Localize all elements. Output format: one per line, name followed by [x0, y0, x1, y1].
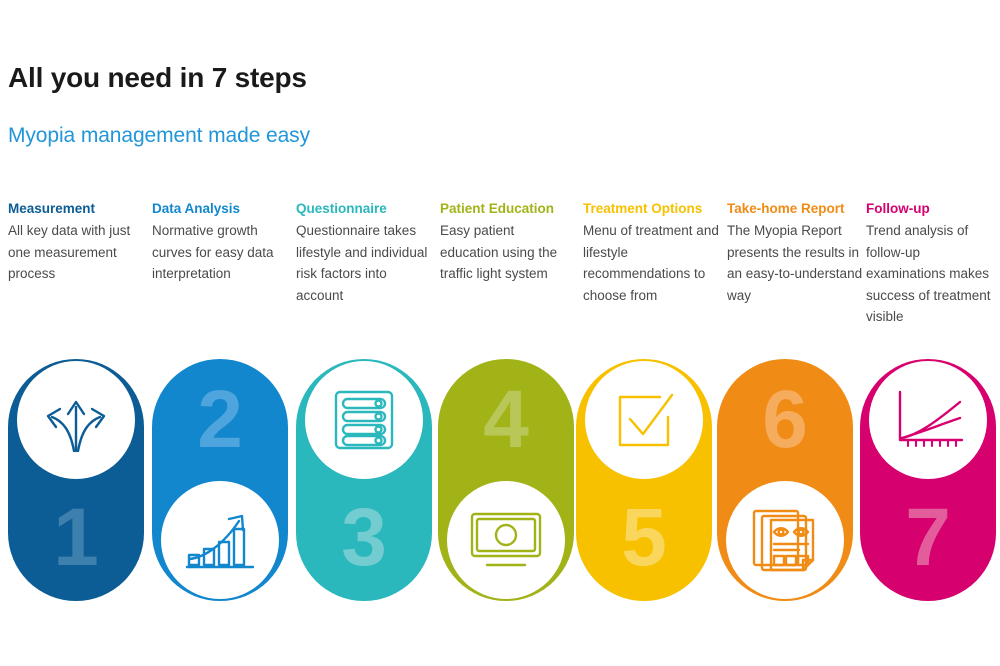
step-pill-6[interactable]: 6: [717, 359, 853, 601]
page-subtitle: Myopia management made easy: [8, 124, 310, 148]
step-number: 1: [8, 497, 144, 579]
step-icon-circle: [869, 361, 987, 479]
step-column-body: Menu of treatment and lifestyle recommen…: [583, 220, 719, 306]
step-column-heading: Treatment Options: [583, 198, 719, 219]
step-pill-5[interactable]: 5: [576, 359, 712, 601]
step-column-heading: Patient Education: [440, 198, 576, 219]
step-icon-circle: [447, 481, 565, 599]
step-column-heading: Follow-up: [866, 198, 1000, 219]
step-column-heading: Data Analysis: [152, 198, 288, 219]
step-column-body: Easy patient education using the traffic…: [440, 220, 576, 285]
step-column-body: Normative growth curves for easy data in…: [152, 220, 288, 285]
step-column-heading: Questionnaire: [296, 198, 432, 219]
patient-screen-icon: [467, 510, 545, 570]
step-pill-3[interactable]: 3: [296, 359, 432, 601]
step-icon-circle: [161, 481, 279, 599]
step-pill-7[interactable]: 7: [860, 359, 996, 601]
step-icon-circle: [305, 361, 423, 479]
step-column-6: Take-home ReportThe Myopia Report presen…: [727, 198, 863, 306]
step-number: 4: [438, 379, 574, 461]
growth-chart-icon: [183, 507, 257, 573]
trend-curve-chart-icon: [890, 388, 966, 452]
report-documents-icon: [749, 506, 821, 574]
step-descriptions: MeasurementAll key data with just one me…: [0, 198, 1000, 338]
step-column-2: Data AnalysisNormative growth curves for…: [152, 198, 288, 285]
checkbox-check-icon: [612, 389, 676, 451]
step-column-4: Patient EducationEasy patient education …: [440, 198, 576, 285]
step-column-7: Follow-upTrend analysis of follow-up exa…: [866, 198, 1000, 328]
step-pill-2[interactable]: 2: [152, 359, 288, 601]
step-column-3: QuestionnaireQuestionnaire takes lifesty…: [296, 198, 432, 306]
step-column-body: The Myopia Report presents the results i…: [727, 220, 863, 306]
step-column-body: Trend analysis of follow-up examinations…: [866, 220, 1000, 328]
step-icon-circle: [585, 361, 703, 479]
step-column-body: All key data with just one measurement p…: [8, 220, 144, 285]
step-column-5: Treatment OptionsMenu of treatment and l…: [583, 198, 719, 306]
step-number: 7: [860, 497, 996, 579]
infographic-page: All you need in 7 steps Myopia managemen…: [0, 0, 1000, 666]
step-pill-4[interactable]: 4: [438, 359, 574, 601]
step-number: 3: [296, 497, 432, 579]
page-title: All you need in 7 steps: [8, 62, 307, 94]
step-number: 2: [152, 379, 288, 461]
step-column-1: MeasurementAll key data with just one me…: [8, 198, 144, 285]
step-number: 5: [576, 497, 712, 579]
step-pills: 1 2: [0, 359, 1000, 601]
step-pill-1[interactable]: 1: [8, 359, 144, 601]
three-way-arrow-icon: [40, 387, 112, 453]
questionnaire-form-icon: [330, 387, 398, 453]
step-number: 6: [717, 379, 853, 461]
step-column-heading: Measurement: [8, 198, 144, 219]
step-icon-circle: [726, 481, 844, 599]
step-column-heading: Take-home Report: [727, 198, 863, 219]
step-icon-circle: [17, 361, 135, 479]
step-column-body: Questionnaire takes lifestyle and indivi…: [296, 220, 432, 306]
